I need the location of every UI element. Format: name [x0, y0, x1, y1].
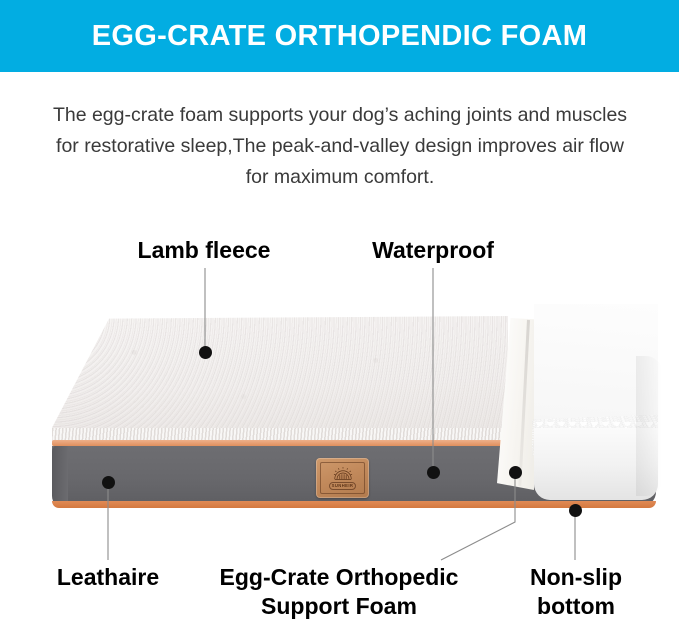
bed-top-piping [52, 440, 507, 446]
callout-label-lamb-fleece: Lamb fleece [54, 236, 354, 265]
callout-label-leathaire: Leathaire [14, 563, 202, 592]
brand-logo-patch-border: SUNHEIR [320, 462, 365, 494]
lamb-fleece-texture [52, 316, 508, 446]
callout-label-non-slip-bottom: Non-slip bottom [497, 563, 655, 622]
bed-side-panel-left-corner [52, 444, 68, 508]
header-banner: EGG-CRATE ORTHOPENDIC FOAM [0, 0, 679, 72]
callout-label-waterproof: Waterproof [311, 236, 555, 265]
brand-logo-patch: SUNHEIR [316, 458, 369, 498]
product-illustration: SUNHEIR [0, 296, 679, 536]
page-title: EGG-CRATE ORTHOPENDIC FOAM [92, 22, 587, 51]
sunburst-icon [332, 466, 354, 481]
intro-paragraph: The egg-crate foam supports your dog’s a… [46, 100, 634, 193]
foam-right-shading [636, 356, 662, 496]
bed-bottom-piping [52, 501, 656, 508]
brand-logo-text: SUNHEIR [329, 482, 357, 489]
callout-label-egg-crate-foam: Egg-Crate Orthopedic Support Foam [196, 563, 482, 622]
